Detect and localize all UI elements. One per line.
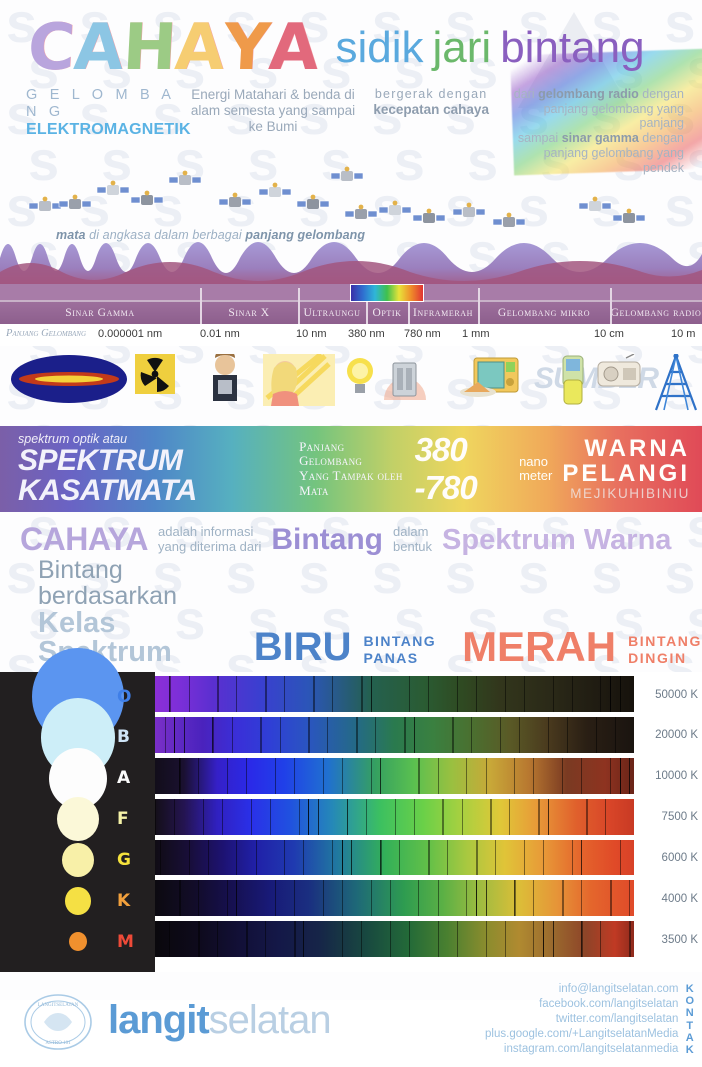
contact-line[interactable]: instagram.com/langitselatanmedia xyxy=(485,1042,678,1057)
space-telescope-icon xyxy=(28,194,62,223)
mejikuhibiniu-label: MEJIKUHIBINIU xyxy=(562,486,690,501)
spectrum-strip-M xyxy=(155,921,634,957)
spectra-strips xyxy=(155,672,634,972)
title-block: CAHAYA sidikjaribintang xyxy=(0,0,702,79)
infographic-page: ssssssssssssssssssssssssssssssssssssssss… xyxy=(0,0,702,1000)
em-band-divider xyxy=(478,288,480,324)
gelombang-label: G E L O M B A N G xyxy=(26,87,176,121)
page-subtitle: sidikjaribintang xyxy=(335,23,644,79)
wavelength-row: Panjang Gelombang 0.000001 nm0.01 nm10 n… xyxy=(0,324,702,346)
spectrum-strip-A xyxy=(155,758,634,794)
kontak-letter: O xyxy=(685,995,694,1007)
dalam-line-1: dalam xyxy=(393,525,432,540)
tagline-bintang-dingin: BINTANG DINGIN xyxy=(628,633,702,666)
em-band-divider xyxy=(298,288,300,324)
xray-child-icon xyxy=(205,354,245,411)
radio-receiver-icon xyxy=(596,354,644,393)
tagline-biru: BIRU xyxy=(254,629,352,666)
space-telescope-icon xyxy=(578,194,612,223)
title-letter: Y xyxy=(222,18,271,79)
tagline-merah: MERAH xyxy=(462,628,616,667)
tagline-bintang-panas: BINTANG PANAS xyxy=(364,633,437,666)
title-letter: C xyxy=(26,18,75,79)
kontak-letter: K xyxy=(686,983,694,995)
range-line-1: dari gelombang radio dengan xyxy=(502,87,684,102)
em-band-divider xyxy=(610,288,612,324)
svg-text:LANGITSELATAN: LANGITSELATAN xyxy=(38,1003,79,1008)
tagline-bintang-berdasarkan: Bintang berdasarkan xyxy=(38,558,216,609)
kecepatan-cahaya-label: kecepatan cahaya xyxy=(373,102,489,117)
title-letter: H xyxy=(121,18,177,79)
kontak-letter: K xyxy=(686,1044,694,1056)
microwave-icon xyxy=(458,354,520,405)
pg-line-2: Yang Tampak oleh Mata xyxy=(299,469,405,498)
contact-line[interactable]: facebook.com/langitselatan xyxy=(485,997,678,1012)
panas-line-2: PANAS xyxy=(364,650,437,667)
spectral-class-K: K xyxy=(117,891,130,911)
dalam-line-2: bentuk xyxy=(393,540,432,555)
brand-wordmark: langitselatan xyxy=(108,1000,331,1040)
em-band-sinar-gamma: Sinar Gamma xyxy=(0,302,200,324)
visible-spectrum-banner: spektrum optik atau SPEKTRUM KASATMATA P… xyxy=(0,426,702,512)
wavelength-range-value: 380 -780 xyxy=(415,431,509,507)
space-telescope-icon xyxy=(330,164,364,193)
adalah-line-1: adalah informasi xyxy=(158,525,261,540)
optic-rainbow-swatch xyxy=(350,284,424,302)
temperature-label-G: 6000 K xyxy=(662,852,698,864)
wavelength-tick: 0.01 nm xyxy=(200,328,240,340)
dingin-line-2: DINGIN xyxy=(628,650,702,667)
em-source-icons-row: SUMBER xyxy=(0,346,702,418)
wavelength-tick: 10 nm xyxy=(296,328,327,340)
header-columns: G E L O M B A N G ELEKTROMAGNETIK Energi… xyxy=(0,79,702,176)
tagline-spektrum-warna: Spektrum Warna xyxy=(442,527,671,555)
spectral-class-labels: OBAFGKM xyxy=(115,672,141,972)
star-marker-F xyxy=(57,797,99,842)
em-band-ultraungu: Ultraungu xyxy=(298,302,366,324)
temperature-label-B: 20000 K xyxy=(655,729,698,741)
wavelength-axis-label: Panjang Gelombang xyxy=(6,328,86,339)
star-marker-M xyxy=(69,932,87,951)
spectrum-strip-O xyxy=(155,676,634,712)
unit-line-1: nano xyxy=(519,455,552,469)
gamma-sky-map-icon xyxy=(10,354,128,409)
em-band-divider xyxy=(200,288,202,324)
subtitle-word: sidik xyxy=(335,23,423,73)
kontak-letter: N xyxy=(686,1007,694,1019)
space-telescope-icon xyxy=(96,178,130,207)
brand-langit: langit xyxy=(108,998,209,1042)
contact-line[interactable]: info@langitselatan.com xyxy=(485,982,678,997)
wavelength-tick: 10 m xyxy=(671,328,695,340)
star-marker-G xyxy=(62,843,94,877)
unit-line-2: meter xyxy=(519,469,552,483)
temperature-label-K: 4000 K xyxy=(662,893,698,905)
tagline-row-1: CAHAYA adalah informasi yang diterima da… xyxy=(0,524,702,554)
stellar-spectra-chart: OBAFGKM 50000 K20000 K10000 K7500 K6000 … xyxy=(0,672,702,972)
radiation-hazard-icon xyxy=(135,354,175,399)
space-telescopes-band: mata di angkasa dalam berbagai panjang g… xyxy=(0,162,702,284)
title-letter: A xyxy=(267,18,319,79)
kontak-letter: A xyxy=(686,1032,694,1044)
em-spectrum-bar: Sinar GammaSinar XUltraunguOptikInframer… xyxy=(0,284,702,346)
taglines-section: CAHAYA adalah informasi yang diterima da… xyxy=(0,512,702,672)
em-band-strip: Sinar GammaSinar XUltraunguOptikInframer… xyxy=(0,300,702,324)
spectral-class-O: O xyxy=(117,687,131,707)
heater-icon xyxy=(382,354,428,409)
temperature-label-A: 10000 K xyxy=(655,770,698,782)
star-marker-K xyxy=(65,887,91,915)
wavelength-unit: nano meter xyxy=(519,455,552,483)
spectrum-strip-B xyxy=(155,717,634,753)
uv-sunbather-icon xyxy=(263,354,335,411)
spektrum-kasatmata-title: SPEKTRUM KASATMATA xyxy=(18,446,289,506)
footer-section: LANGITSELATAN ASTRO 101 langitselatan in… xyxy=(0,972,702,1067)
kontak-vertical-label: KONTAK xyxy=(685,983,694,1057)
radio-tower-icon xyxy=(650,354,702,417)
lightbulb-icon xyxy=(345,354,375,403)
star-size-column: OBAFGKM xyxy=(0,672,155,972)
em-band-sinar-x: Sinar X xyxy=(200,302,298,324)
space-telescope-icon xyxy=(258,180,292,209)
tagline-dalam-bentuk: dalam bentuk xyxy=(393,525,432,554)
wavelength-tick: 10 cm xyxy=(594,328,624,340)
em-band-inframerah: Inframerah xyxy=(408,302,478,324)
pelangi-label: PELANGI xyxy=(562,462,690,486)
space-telescope-icon xyxy=(130,188,164,217)
spectral-class-F: F xyxy=(117,809,129,829)
tagline-bintang: Bintang xyxy=(271,526,383,555)
temperature-labels: 50000 K20000 K10000 K7500 K6000 K4000 K3… xyxy=(634,672,702,972)
wave-graphic xyxy=(0,224,702,290)
contact-line[interactable]: twitter.com/langitselatan xyxy=(485,1012,678,1027)
em-band-optik: Optik xyxy=(366,302,408,324)
spectral-class-G: G xyxy=(117,850,131,870)
temperature-label-O: 50000 K xyxy=(655,689,698,701)
em-band-gelombang-radio: Gelombang radio xyxy=(610,302,702,324)
spectral-class-B: B xyxy=(117,727,130,747)
title-letter: A xyxy=(72,18,124,79)
tagline-row-2: Bintang berdasarkan Kelas Spektrum BIRU … xyxy=(0,558,702,666)
elektromagnetik-label: ELEKTROMAGNETIK xyxy=(26,121,176,140)
spectral-class-M: M xyxy=(117,932,134,952)
temperature-label-M: 3500 K xyxy=(662,934,698,946)
dingin-line-1: BINTANG xyxy=(628,633,702,650)
temperature-label-F: 7500 K xyxy=(662,811,698,823)
warna-label: WARNA xyxy=(562,437,690,461)
title-letter: A xyxy=(173,18,225,79)
spectral-class-A: A xyxy=(117,768,130,788)
subtitle-word: bintang xyxy=(500,23,644,73)
kontak-letter: T xyxy=(686,1020,693,1032)
visible-title-block: spektrum optik atau SPEKTRUM KASATMATA xyxy=(18,432,289,506)
spectrum-strip-F xyxy=(155,799,634,835)
space-telescope-icon xyxy=(58,192,92,221)
contact-line[interactable]: plus.google.com/+LangitselatanMedia xyxy=(485,1027,678,1042)
wavelength-tick: 780 nm xyxy=(404,328,441,340)
bergerak-label: bergerak dengan xyxy=(370,87,492,102)
space-telescope-icon xyxy=(378,198,412,227)
subtitle-word: jari xyxy=(433,23,492,73)
spectrum-strip-G xyxy=(155,840,634,876)
page-title: CAHAYA xyxy=(28,18,317,79)
space-telescope-icon xyxy=(296,192,330,221)
mobile-phone-icon xyxy=(560,354,586,411)
contact-list: info@langitselatan.comfacebook.com/langi… xyxy=(485,982,678,1058)
pg-line-1: Panjang Gelombang xyxy=(299,440,405,469)
tagline-cahaya: CAHAYA xyxy=(20,524,148,554)
range-line-3: sampai sinar gamma dengan xyxy=(502,131,684,146)
panas-line-1: BINTANG xyxy=(364,633,437,650)
space-telescope-icon xyxy=(168,168,202,197)
range-line-2: panjang gelombang yang panjang xyxy=(502,102,684,132)
adalah-line-2: yang diterima dari xyxy=(158,540,261,555)
panjang-gelombang-note: Panjang Gelombang Yang Tampak oleh Mata xyxy=(299,440,405,498)
wavelength-tick: 380 nm xyxy=(348,328,385,340)
warna-pelangi-block: WARNA PELANGI MEJIKUHIBINIU xyxy=(562,437,690,501)
langitselatan-seal-icon: LANGITSELATAN ASTRO 101 xyxy=(22,992,94,1048)
em-band-gelombang-mikro: Gelombang mikro xyxy=(478,302,610,324)
wavelength-tick: 0.000001 nm xyxy=(98,328,162,340)
brand-selatan: selatan xyxy=(209,998,331,1042)
space-telescope-icon xyxy=(218,190,252,219)
header-section: CAHAYA sidikjaribintang G E L O M B A N … xyxy=(0,0,702,168)
wavelength-tick: 1 mm xyxy=(462,328,490,340)
svg-text:ASTRO 101: ASTRO 101 xyxy=(45,1041,71,1046)
spectrum-strip-K xyxy=(155,880,634,916)
tagline-adalah-informasi: adalah informasi yang diterima dari xyxy=(158,525,261,554)
